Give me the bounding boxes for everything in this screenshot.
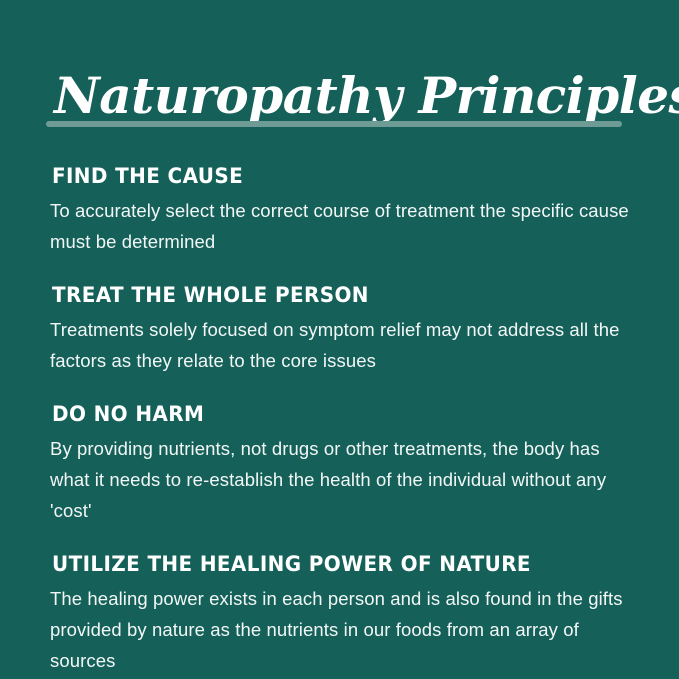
naturopathy-principles-poster: Naturopathy Principles FIND THE CAUSE To… [0, 0, 679, 679]
principle-item-find-the-cause: FIND THE CAUSE To accurately select the … [50, 163, 650, 257]
principle-heading: UTILIZE THE HEALING POWER OF NATURE [52, 551, 620, 577]
principle-heading: DO NO HARM [52, 401, 620, 427]
principle-heading: FIND THE CAUSE [52, 163, 620, 189]
principle-body: By providing nutrients, not drugs or oth… [50, 433, 640, 526]
principle-item-do-no-harm: DO NO HARM By providing nutrients, not d… [50, 401, 650, 526]
principle-item-utilize-the-healing-power-of-nature: UTILIZE THE HEALING POWER OF NATURE The … [50, 551, 650, 676]
page-title: Naturopathy Principles [54, 67, 679, 125]
principle-item-treat-the-whole-person: TREAT THE WHOLE PERSON Treatments solely… [50, 282, 650, 376]
title-divider [46, 121, 622, 127]
principle-body: Treatments solely focused on symptom rel… [50, 314, 640, 376]
principle-heading: TREAT THE WHOLE PERSON [52, 282, 620, 308]
principle-body: The healing power exists in each person … [50, 583, 640, 676]
principles-list: FIND THE CAUSE To accurately select the … [50, 163, 650, 676]
principle-body: To accurately select the correct course … [50, 195, 640, 257]
